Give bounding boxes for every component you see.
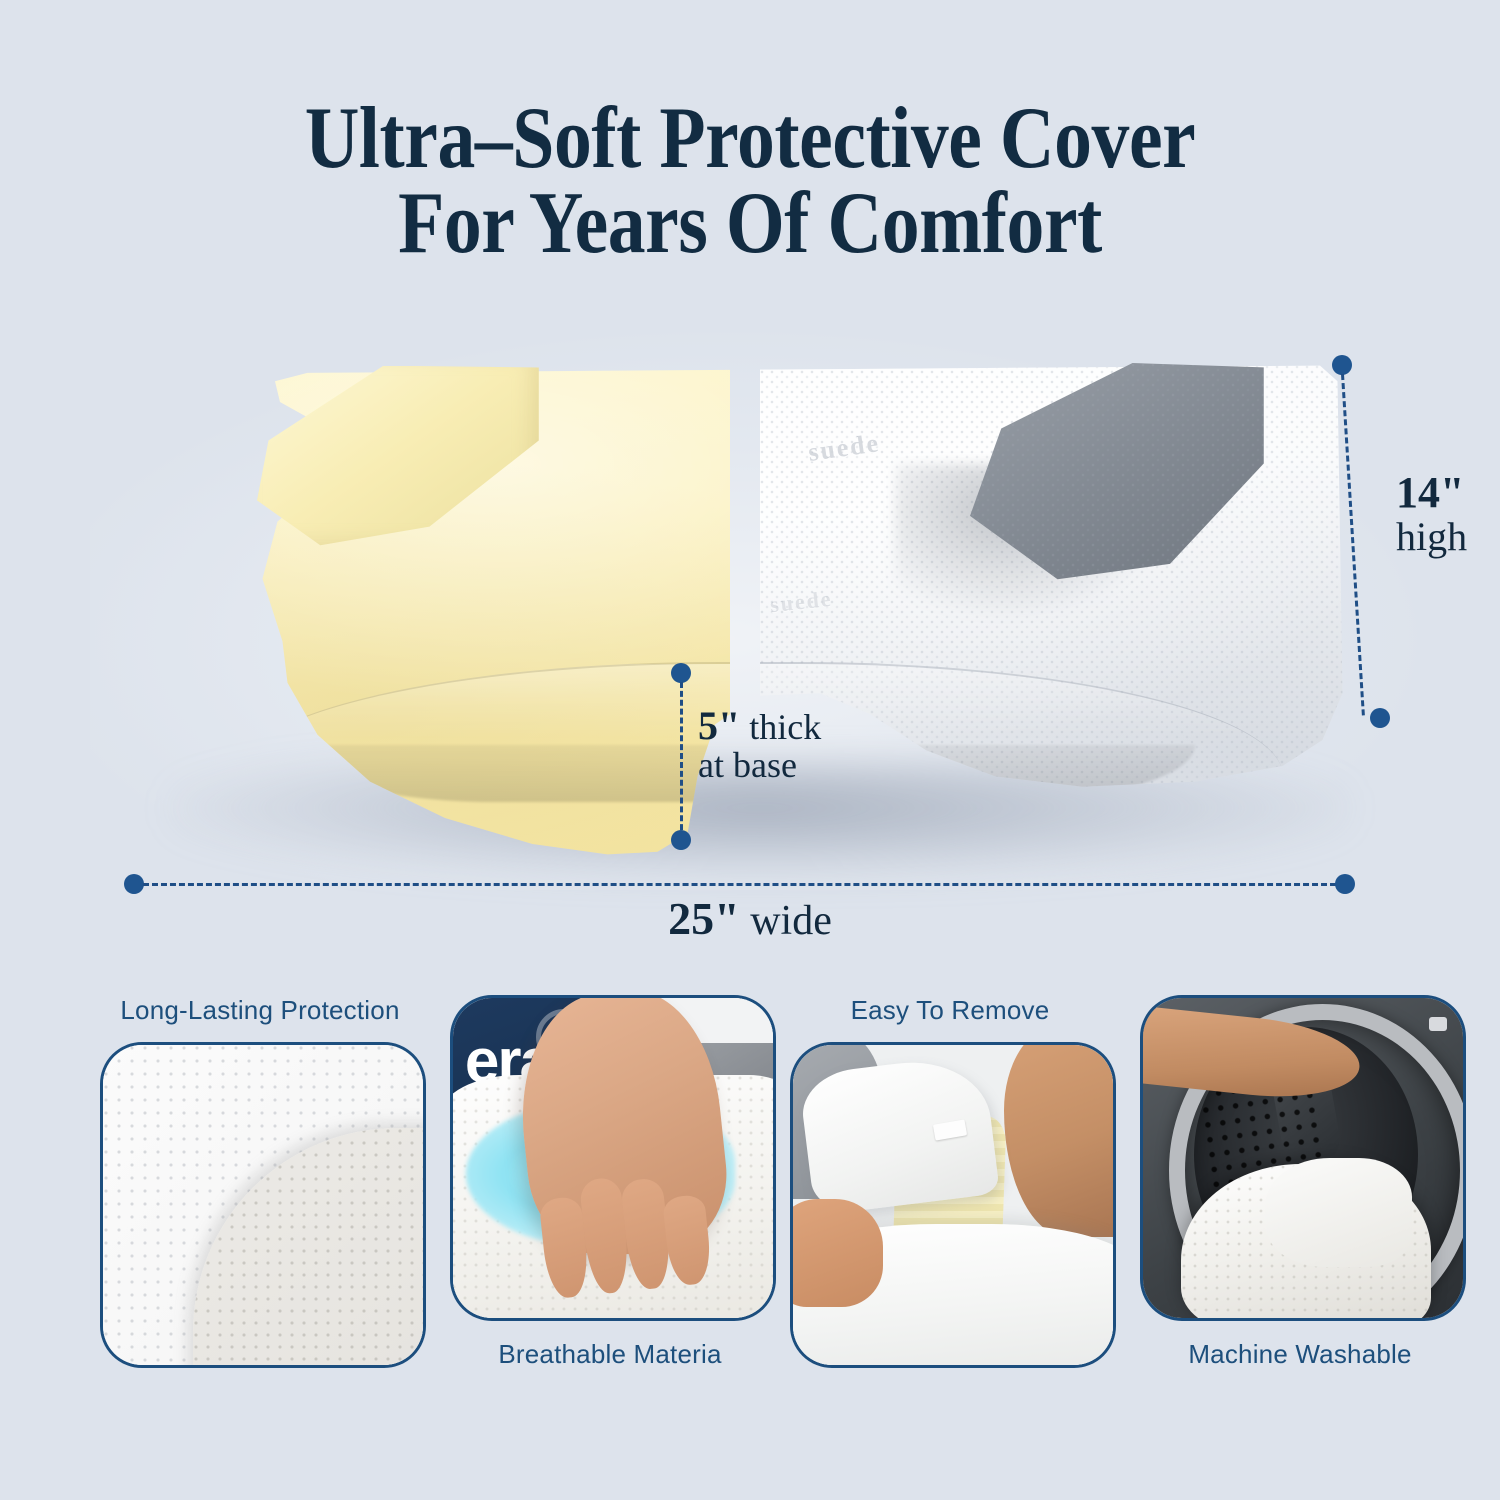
feature-image-washing-machine[interactable] <box>1140 995 1466 1321</box>
width-callout-line <box>143 883 1345 886</box>
height-value: 14" <box>1396 468 1464 517</box>
feature-image-hand-on-cooling-gel[interactable]: era <box>450 995 776 1321</box>
feature-card-long-lasting-protection[interactable]: Long-Lasting Protection <box>100 995 420 1368</box>
hero-product-section: suede suede suede <box>0 330 1500 890</box>
width-callout-label: 25" wide <box>0 895 1500 943</box>
cover-removal-scene <box>793 1045 1113 1365</box>
feature-label-machine-washable: Machine Washable <box>1140 1339 1460 1370</box>
page-title-line-1: Ultra–Soft Protective Cover <box>305 90 1196 187</box>
feature-card-machine-washable[interactable]: Machine Washable <box>1140 995 1460 1370</box>
height-unit-label: high <box>1396 514 1467 559</box>
forearm <box>1004 1042 1116 1237</box>
feature-card-breathable-material[interactable]: era Breathable Materia <box>450 995 770 1370</box>
thickness-callout-dot-top <box>671 663 691 683</box>
height-callout-label: 14" high <box>1396 470 1467 558</box>
fabric-swatch <box>103 1045 423 1365</box>
page-title: Ultra–Soft Protective Cover For Years Of… <box>105 96 1395 267</box>
width-callout-dot-right <box>1335 874 1355 894</box>
thickness-unit-label-2: at base <box>698 745 797 785</box>
height-callout-dot-top <box>1332 355 1352 375</box>
feature-image-fabric-swatch[interactable] <box>100 1042 426 1368</box>
feature-cards-row: Long-Lasting Protection era <box>0 985 1500 1435</box>
feature-label-breathable-material: Breathable Materia <box>450 1339 770 1370</box>
width-value: 25" <box>668 893 740 944</box>
feature-label-easy-to-remove: Easy To Remove <box>790 995 1110 1026</box>
cooling-gel-scene: era <box>453 998 773 1318</box>
feature-image-removing-cover[interactable] <box>790 1042 1116 1368</box>
contour-pillow-image: suede suede suede <box>120 350 1370 870</box>
feature-label-long-lasting-protection: Long-Lasting Protection <box>100 995 420 1026</box>
washing-machine-scene <box>1143 998 1463 1318</box>
thickness-unit-label: thick <box>749 707 821 747</box>
width-callout-dot-left <box>124 874 144 894</box>
thickness-callout-dot-bottom <box>671 830 691 850</box>
thickness-callout-line <box>680 682 683 839</box>
pillow-cover-fold <box>1265 1158 1412 1267</box>
thickness-callout-label: 5" thick at base <box>698 705 821 785</box>
feature-card-easy-to-remove[interactable]: Easy To Remove <box>790 995 1110 1368</box>
hand-gripping <box>790 1199 883 1308</box>
thickness-value: 5" <box>698 703 740 748</box>
cover-flap-top <box>798 1053 999 1215</box>
door-latch-icon <box>1429 1017 1447 1031</box>
height-callout-dot-bottom <box>1370 708 1390 728</box>
width-unit-label: wide <box>750 898 832 944</box>
page-title-line-2: For Years Of Comfort <box>105 181 1395 266</box>
